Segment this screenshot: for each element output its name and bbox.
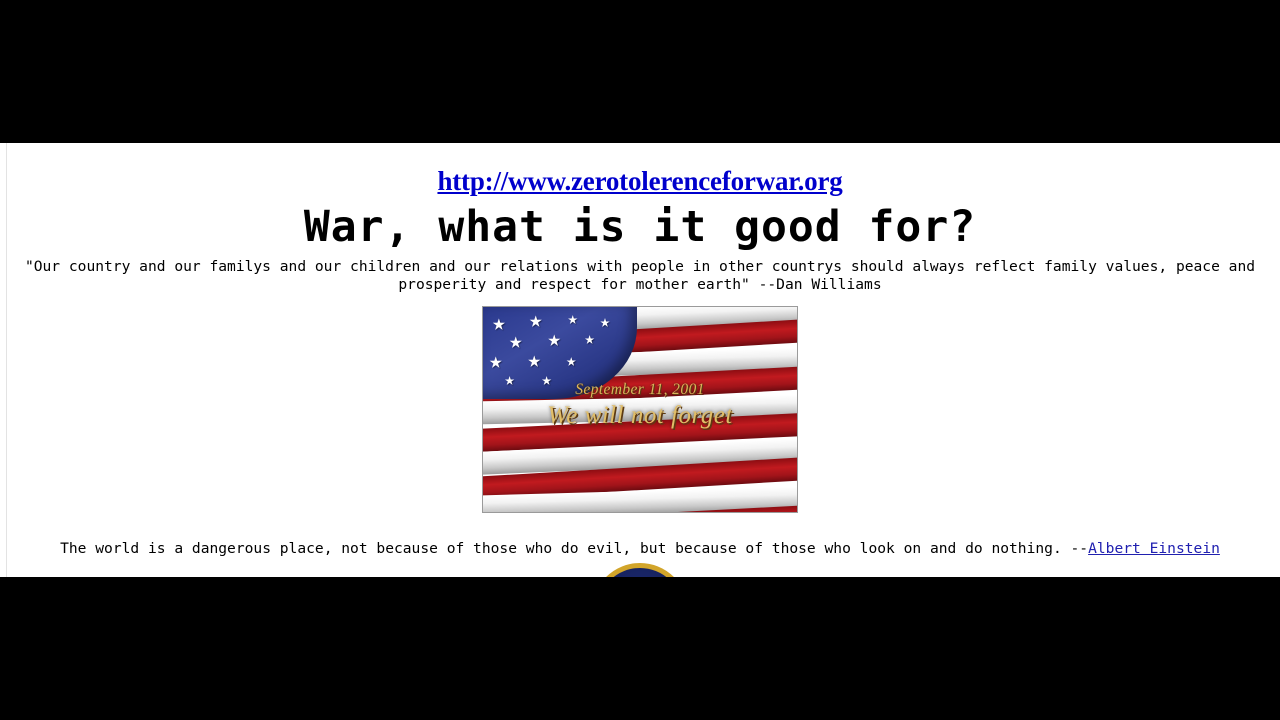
bottom-quote-text: The world is a dangerous place, not beca…	[60, 540, 1088, 557]
albert-einstein-link[interactable]: Albert Einstein	[1088, 540, 1220, 557]
bottom-quote-row: The world is a dangerous place, not beca…	[0, 540, 1280, 558]
site-url-link[interactable]: http://www.zerotolerenceforwar.org	[437, 166, 842, 196]
flag-memorial-image: ★ ★ ★ ★ ★ ★ ★ ★ ★ ★ ★ ★ September 11, 20…	[482, 306, 798, 513]
flag-overlay-text: September 11, 2001 We will not forget	[483, 381, 797, 430]
top-quote-text: "Our country and our familys and our chi…	[0, 258, 1280, 294]
flag-motto-text: We will not forget	[483, 402, 797, 430]
web-page-content: http://www.zerotolerenceforwar.org War, …	[0, 143, 1280, 577]
flag-image-wrapper: ★ ★ ★ ★ ★ ★ ★ ★ ★ ★ ★ ★ September 11, 20…	[0, 306, 1280, 513]
site-url-row: http://www.zerotolerenceforwar.org	[0, 166, 1280, 197]
letterbox-bottom-bar	[0, 577, 1280, 720]
letterbox-top-bar	[0, 0, 1280, 143]
flag-date-text: September 11, 2001	[483, 381, 797, 399]
page-title: War, what is it good for?	[0, 203, 1280, 251]
screenshot-viewport: http://www.zerotolerenceforwar.org War, …	[0, 0, 1280, 720]
browser-gutter-line	[6, 143, 7, 577]
